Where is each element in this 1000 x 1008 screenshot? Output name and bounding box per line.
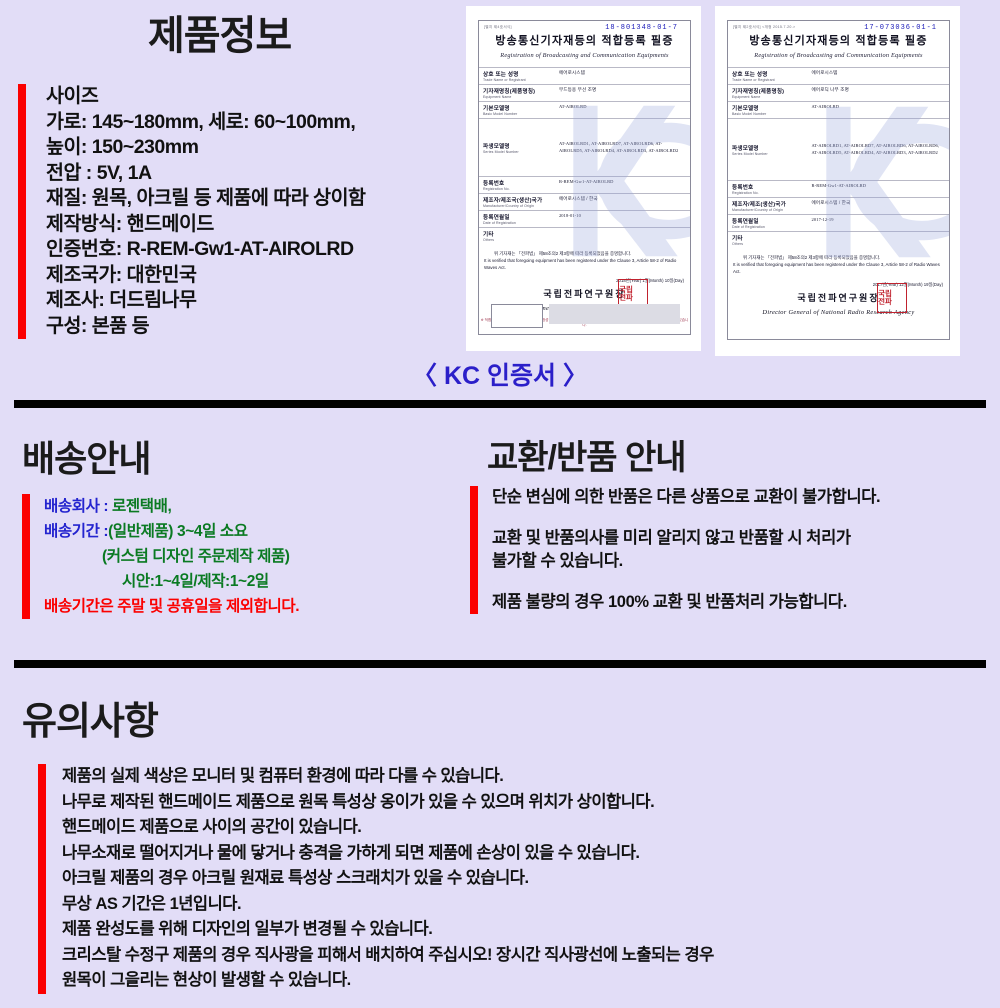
table-row: 기본모델명Basic Model NumberAT-AIROLRD (728, 102, 949, 119)
cert1-doc-number: 18-801348-01-7 (605, 24, 678, 32)
cert2-table: 상호 또는 성명Trade Name or Registrant에어로시스템 기… (728, 67, 949, 248)
kc-certificate-1[interactable]: [별지 제4호서식] 18-801348-01-7 방송통신기자재등의 적합등록… (466, 6, 701, 351)
cert2-r0-label: 상호 또는 성명 (732, 70, 804, 78)
notice-line-list: 제품의 실제 색상은 모니터 및 컴퓨터 환경에 따라 다를 수 있습니다. 나… (62, 764, 714, 994)
notice-line-sunlight-1: 크리스탈 수정구 제품의 경우 직사광을 피해서 배치하여 주십시오! 장시간 … (62, 943, 714, 969)
notice-title: 유의사항 (22, 690, 158, 745)
shipping-title: 배송안내 (22, 430, 150, 482)
cert1-bottom-bar (549, 304, 680, 324)
shipping-line-custom: (커스텀 디자인 주문제작 제품) (44, 544, 299, 569)
accent-bar-product-info (18, 84, 26, 339)
cert1-r6-label-en: Date of Registration (483, 221, 551, 225)
cert1-r2-value: AT-AIROLRD (559, 104, 686, 111)
cert2-r2-label-en: Basic Model Number (732, 112, 804, 116)
notice-body: 제품의 실제 색상은 모니터 및 컴퓨터 환경에 따라 다를 수 있습니다. 나… (38, 764, 714, 994)
table-row: 제조자/제조(생산)국가Manufacturer/Country of Orig… (728, 198, 949, 215)
shipping-line-holiday-note: 배송기간은 주말 및 공휴일을 제외합니다. (44, 594, 299, 619)
cert1-r5-label-en: Manufacturer/Country of Origin (483, 204, 551, 208)
spec-line-cert-number: 인증번호: R-REM-Gw1-AT-AIROLRD (46, 237, 365, 263)
cert2-r1-label-en: Equipment Name (732, 95, 804, 99)
shipping-line-custom-detail: 시안:1~4일/제작:1~2일 (44, 569, 299, 594)
spec-line-manufacturer: 제조사: 더드림나무 (46, 288, 365, 314)
spec-line-width-depth: 가로: 145~180mm, 세로: 60~100mm, (46, 110, 365, 136)
cert1-r7-label-en: Others (483, 238, 551, 242)
accent-bar-returns (470, 486, 478, 614)
notice-line-warranty: 무상 AS 기간은 1년입니다. (62, 892, 714, 918)
table-row: 기타Others (479, 228, 690, 245)
table-row: 등록연월일Date of Registration2017-12-19 (728, 215, 949, 232)
cert2-r5-label-en: Manufacturer/Country of Origin (732, 208, 804, 212)
cert1-r4-label: 등록번호 (483, 179, 551, 187)
cert1-r6-label: 등록연월일 (483, 213, 551, 221)
cert2-date: 2017년(Year) 12월(Month) 19일(Day) (728, 275, 949, 288)
table-row: 기자재명칭(제품명칭)Equipment Name무드등용 무선 조명 (479, 85, 690, 102)
cert1-r5-label: 제조자/제조국(생산)국가 (483, 196, 551, 204)
cert2-r5-value: 에어로시스템 / 한국 (812, 200, 945, 207)
cert1-r5-value: 에어로시스템 / 한국 (559, 196, 686, 203)
notice-line-color: 제품의 실제 색상은 모니터 및 컴퓨터 환경에 따라 다를 수 있습니다. (62, 764, 714, 790)
cert2-r2-label: 기본모델명 (732, 104, 804, 112)
notice-line-knots: 나무로 제작된 핸드메이드 제품으로 원목 특성상 옹이가 있을 수 있으며 위… (62, 790, 714, 816)
kc-certificate-caption: 〈 KC 인증서 〉 (0, 356, 1000, 392)
cert1-r2-label: 기본모델명 (483, 104, 551, 112)
cert2-official-stamp-icon: 국립전파 (877, 283, 907, 313)
cert1-title-ko: 방송통신기자재등의 적합등록 필증 (479, 32, 690, 48)
cert2-r0-label-en: Trade Name or Registrant (732, 78, 804, 82)
spec-line-height: 높이: 150~230mm (46, 135, 365, 161)
cert1-date: 2018년(Year) 1월(Month) 10일(Day) (479, 271, 690, 284)
cert2-r6-label-en: Date of Registration (732, 225, 804, 229)
returns-paragraph-change-of-mind: 단순 변심에 의한 반품은 다른 상품으로 교환이 불가합니다. (492, 486, 880, 509)
accent-bar-notice (38, 764, 46, 994)
cert2-r2-value: AT-AIROLRD (812, 104, 945, 111)
cert1-r0-label-en: Trade Name or Registrant (483, 78, 551, 82)
cert1-r3-label-en: Series Model Number (483, 150, 551, 154)
section-divider-2 (14, 660, 986, 668)
cert2-r7-label: 기타 (732, 234, 804, 242)
cert2-r6-value: 2017-12-19 (812, 217, 945, 224)
section-divider-1 (14, 400, 986, 408)
table-row: 파생모델명Series Model NumberAT-AIROLRD1, AT-… (479, 119, 690, 177)
cert1-r1-label: 기자재명칭(제품명칭) (483, 87, 551, 95)
notice-line-gaps: 핸드메이드 제품으로 사이의 공간이 있습니다. (62, 815, 714, 841)
shipping-body: 배송회사 : 로젠택배, 배송기간 :(일반제품) 3~4일 소요 (커스텀 디… (22, 494, 299, 619)
cert1-r4-value: R-REM-Gw1-AT-AIROLRD (559, 179, 686, 186)
shipping-returns-section: 배송안내 배송회사 : 로젠택배, 배송기간 :(일반제품) 3~4일 소요 (… (0, 408, 1000, 660)
cert2-r3-label: 파생모델명 (732, 144, 804, 152)
returns-body: 단순 변심에 의한 반품은 다른 상품으로 교환이 불가합니다. 교환 및 반품… (470, 486, 880, 614)
shipping-line-company: 배송회사 : 로젠택배, (44, 494, 299, 519)
spec-line-size-label: 사이즈 (46, 84, 365, 110)
spec-line-contents: 구성: 본품 등 (46, 314, 365, 340)
table-row: 등록번호Registration No.R-REM-Gw1-AT-AIROLRD (728, 181, 949, 198)
cert2-signer-en: Director General of National Radio Resea… (728, 309, 949, 316)
product-info-section: 제품정보 사이즈 가로: 145~180mm, 세로: 60~100mm, 높이… (0, 0, 1000, 400)
table-row: 등록번호Registration No.R-REM-Gw1-AT-AIROLRD (479, 177, 690, 194)
returns-paragraph-prior-notice: 교환 및 반품의사를 미리 알리지 않고 반품할 시 처리가 불가할 수 있습니… (492, 527, 880, 573)
shipping-line-duration: 배송기간 :(일반제품) 3~4일 소요 (44, 519, 299, 544)
cert1-title-en: Registration of Broadcasting and Communi… (479, 52, 690, 59)
cert2-r4-value: R-REM-Gw1-AT-AIROLRD (812, 183, 945, 190)
table-row: 기본모델명Basic Model NumberAT-AIROLRD (479, 102, 690, 119)
cert2-r1-label: 기자재명칭(제품명칭) (732, 87, 804, 95)
cert1-r1-value: 무드등용 무선 조명 (559, 87, 686, 94)
kc-certificate-2[interactable]: [별지 제2호서식] <개정 2015.7.20.> 17-073036-01-… (715, 6, 960, 356)
spec-line-material: 재질: 원목, 아크릴 등 제품에 따라 상이함 (46, 186, 365, 212)
returns-paragraph-defect: 제품 불량의 경우 100% 교환 및 반품처리 가능합니다. (492, 591, 880, 614)
product-info-body: 사이즈 가로: 145~180mm, 세로: 60~100mm, 높이: 150… (18, 84, 365, 339)
cert2-r5-label: 제조자/제조(생산)국가 (732, 200, 804, 208)
cert2-title-en: Registration of Broadcasting and Communi… (728, 52, 949, 59)
cert2-r6-label: 등록연월일 (732, 217, 804, 225)
cert1-r2-label-en: Basic Model Number (483, 112, 551, 116)
cert1-footer-ko: 위 기자재는 「전파법」 제58조의2 제3항에 따라 등록되었음을 증명합니다… (484, 250, 685, 257)
notice-line-damage: 나무소재로 떨어지거나 물에 닿거나 충격을 가하게 되면 제품에 손상이 있을… (62, 841, 714, 867)
cert1-signer-ko: 국립전파연구원장 (543, 289, 625, 299)
spec-line-country: 제조국가: 대한민국 (46, 263, 365, 289)
cert1-bottom-box (491, 304, 543, 328)
kc-certificate-images: [별지 제4호서식] 18-801348-01-7 방송통신기자재등의 적합등록… (466, 6, 960, 356)
cert2-title-ko: 방송통신기자재등의 적합등록 필증 (728, 32, 949, 48)
cert1-r0-label: 상호 또는 성명 (483, 70, 551, 78)
cert2-footer-ko: 위 기자재는 「전파법」 제58조의2 제3항에 따라 등록되었음을 증명합니다… (733, 254, 944, 261)
cert1-table: 상호 또는 성명Trade Name or Registrant에어로시스템 기… (479, 67, 690, 244)
table-row: 등록연월일Date of Registration2018-01-10 (479, 211, 690, 228)
cert1-r0-value: 에어로시스템 (559, 70, 686, 77)
returns-paragraph-list: 단순 변심에 의한 반품은 다른 상품으로 교환이 불가합니다. 교환 및 반품… (492, 486, 880, 614)
cert2-r1-value: 에어로딕 나무 조명 (812, 87, 945, 94)
cert2-r3-label-en: Series Model Number (732, 152, 804, 156)
cert1-r4-label-en: Registration No. (483, 187, 551, 191)
cert2-r4-label: 등록번호 (732, 183, 804, 191)
table-row: 상호 또는 성명Trade Name or Registrant에어로시스템 (728, 68, 949, 85)
cert2-r7-label-en: Others (732, 242, 804, 246)
cert2-r0-value: 에어로시스템 (812, 70, 945, 77)
accent-bar-shipping (22, 494, 30, 619)
spec-line-method: 제작방식: 핸드메이드 (46, 212, 365, 238)
table-row: 제조자/제조국(생산)국가Manufacturer/Country of Ori… (479, 194, 690, 211)
shipping-line-list: 배송회사 : 로젠택배, 배송기간 :(일반제품) 3~4일 소요 (커스텀 디… (44, 494, 299, 619)
cert1-r3-label: 파생모델명 (483, 142, 551, 150)
cert1-r7-label: 기타 (483, 230, 551, 238)
table-row: 기타Others (728, 232, 949, 249)
cert2-form-code: [별지 제2호서식] <개정 2015.7.20.> (733, 25, 795, 30)
cert1-r1-label-en: Equipment Name (483, 95, 551, 99)
notice-line-design: 제품 완성도를 위해 디자인의 일부가 변경될 수 있습니다. (62, 917, 714, 943)
cert2-doc-number: 17-073036-01-1 (864, 24, 937, 32)
cert1-footer-en: It is verified that foregoing equipment … (484, 257, 685, 271)
cert1-r6-value: 2018-01-10 (559, 213, 686, 220)
cert2-footer-en: It is verified that foregoing equipment … (733, 261, 944, 275)
cert2-r3-value: AT-AIROLRD1, AT-AIROLRD7, AT-AIROLRD6, A… (812, 143, 945, 156)
product-info-spec-list: 사이즈 가로: 145~180mm, 세로: 60~100mm, 높이: 150… (46, 84, 365, 339)
table-row: 기자재명칭(제품명칭)Equipment Name에어로딕 나무 조명 (728, 85, 949, 102)
cert2-r4-label-en: Registration No. (732, 191, 804, 195)
product-detail-page: 제품정보 사이즈 가로: 145~180mm, 세로: 60~100mm, 높이… (0, 0, 1000, 1000)
cert1-form-code: [별지 제4호서식] (484, 25, 512, 30)
spec-line-voltage: 전압 : 5V, 1A (46, 161, 365, 187)
notice-section: 유의사항 제품의 실제 색상은 모니터 및 컴퓨터 환경에 따라 다를 수 있습… (0, 668, 1000, 1008)
returns-title: 교환/반품 안내 (487, 430, 686, 479)
table-row: 파생모델명Series Model NumberAT-AIROLRD1, AT-… (728, 119, 949, 181)
notice-line-sunlight-2: 원목이 그을리는 현상이 발생할 수 있습니다. (62, 968, 714, 994)
page-title: 제품정보 (148, 16, 291, 56)
notice-line-scratch: 아크릴 제품의 경우 아크릴 원재료 특성상 스크래치가 있을 수 있습니다. (62, 866, 714, 892)
table-row: 상호 또는 성명Trade Name or Registrant에어로시스템 (479, 68, 690, 85)
cert1-r3-value: AT-AIROLRD1, AT-AIROLRD7, AT-AIROLRD6, A… (559, 141, 686, 154)
cert2-signer-ko: 국립전파연구원장 (797, 293, 879, 303)
